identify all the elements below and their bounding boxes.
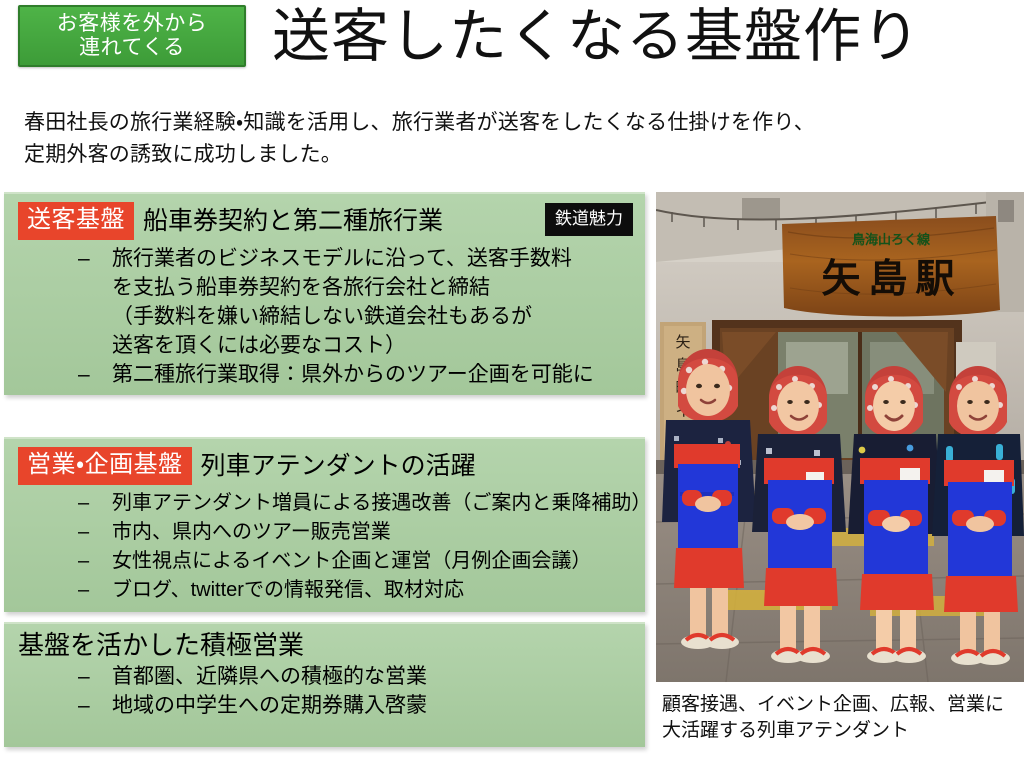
bullet-line: 地域の中学生への定期券購入啓蒙 (112, 691, 645, 720)
station-attendants-photo: 鳥海山ろく線 矢島駅 矢 島 町 イ ン (656, 192, 1024, 682)
bullet-line: 旅行業者のビジネスモデルに沿って、送客手数料 (112, 244, 645, 273)
page-title: 送客したくなる基盤作り (272, 2, 921, 72)
svg-text:矢: 矢 (675, 333, 690, 351)
header-badge-line2: 連れてくる (57, 36, 208, 60)
panel-tag-soukyaku: 送客基盤 (18, 202, 134, 240)
bullet-line: を支払う船車券契約を各旅行会社と締結 (112, 273, 645, 302)
panel-header: 営業・企画基盤 列車アテンダントの活躍 (4, 439, 645, 485)
bullet-dash: – (78, 576, 89, 605)
bullet-dash: – (78, 489, 89, 518)
photo-caption-line2: 大活躍する列車アテンダント (662, 718, 1024, 744)
list-item: – 女性視点によるイベント企画と運営（月例企画会議） (4, 547, 645, 576)
subtitle-paragraph: 春田社長の旅行業経験・知識を活用し、旅行業者が送客をしたくなる仕掛けを作り、 定… (24, 107, 1004, 171)
photo-caption: 顧客接遇、イベント企画、広報、営業に 大活躍する列車アテンダント (662, 692, 1024, 744)
bullet-dash: – (78, 360, 90, 389)
photo-caption-line1: 顧客接遇、イベント企画、広報、営業に (662, 692, 1024, 718)
bullet-dash: – (78, 518, 89, 547)
header-badge-line1: お客様を外から (57, 12, 208, 36)
panel-heading: 船車券契約と第二種旅行業 (143, 209, 443, 234)
panel-eigyo-kikaku-kiban: 営業・企画基盤 列車アテンダントの活躍 – 列車アテンダント増員による接遇改善（… (4, 437, 645, 612)
header-green-badge: お客様を外から 連れてくる (18, 5, 246, 67)
panel-heading: 列車アテンダントの活躍 (201, 454, 476, 479)
panel-heading: 基盤を活かした積極営業 (18, 632, 304, 658)
bullet-line: （手数料を嫌い締結しない鉄道会社もあるが (112, 302, 645, 331)
bullet-line: 第二種旅行業取得：県外からのツアー企画を可能に (112, 360, 645, 389)
list-item: – ブログ、twitterでの情報発信、取材対応 (4, 576, 645, 605)
svg-text:鳥海山ろく線: 鳥海山ろく線 (852, 232, 931, 248)
list-item: – 列車アテンダント増員による接遇改善（ご案内と乗降補助） (4, 489, 645, 518)
list-item: – 市内、県内へのツアー販売営業 (4, 518, 645, 547)
bullet-dash: – (78, 691, 90, 720)
bullet-line: 列車アテンダント増員による接遇改善（ご案内と乗降補助） (112, 489, 645, 518)
list-item: – 地域の中学生への定期券購入啓蒙 (4, 691, 645, 720)
panel-header: 基盤を活かした積極営業 (4, 624, 645, 658)
bullet-line: 送客を頂くには必要なコスト） (112, 331, 645, 360)
bullet-dash: – (78, 662, 90, 691)
svg-text:矢島駅: 矢島駅 (821, 257, 962, 302)
subtitle-line1: 春田社長の旅行業経験・知識を活用し、旅行業者が送客をしたくなる仕掛けを作り、 (24, 107, 1004, 139)
bullet-dash: – (78, 547, 89, 576)
bullet-line: 市内、県内へのツアー販売営業 (112, 518, 645, 547)
panel-soukyaku-kiban: 送客基盤 船車券契約と第二種旅行業 鉄道魅力 – 旅行業者のビジネスモデルに沿っ… (4, 192, 645, 395)
list-item: – 第二種旅行業取得：県外からのツアー企画を可能に (4, 360, 645, 389)
subtitle-line2: 定期外客の誘致に成功しました。 (24, 139, 1004, 171)
bullet-list: – 首都圏、近隣県への積極的な営業 – 地域の中学生への定期券購入啓蒙 (4, 658, 645, 720)
bullet-list: – 列車アテンダント増員による接遇改善（ご案内と乗降補助） – 市内、県内へのツ… (4, 485, 645, 605)
bullet-dash: – (78, 244, 90, 273)
corner-tag-tetsudo-miryoku: 鉄道魅力 (545, 203, 633, 236)
bullet-line: 女性視点によるイベント企画と運営（月例企画会議） (112, 547, 645, 576)
photo-illustration: 鳥海山ろく線 矢島駅 矢 島 町 イ ン (656, 192, 1024, 682)
bullet-line: 首都圏、近隣県への積極的な営業 (112, 662, 645, 691)
bullet-line: ブログ、twitterでの情報発信、取材対応 (112, 576, 645, 605)
panel-kiban-sekkyoku-eigyo: 基盤を活かした積極営業 – 首都圏、近隣県への積極的な営業 – 地域の中学生への… (4, 622, 645, 747)
list-item: – 旅行業者のビジネスモデルに沿って、送客手数料 を支払う船車券契約を各旅行会社… (4, 244, 645, 360)
panel-tag-eigyo-kikaku: 営業・企画基盤 (18, 447, 192, 485)
list-item: – 首都圏、近隣県への積極的な営業 (4, 662, 645, 691)
bullet-list: – 旅行業者のビジネスモデルに沿って、送客手数料 を支払う船車券契約を各旅行会社… (4, 240, 645, 389)
